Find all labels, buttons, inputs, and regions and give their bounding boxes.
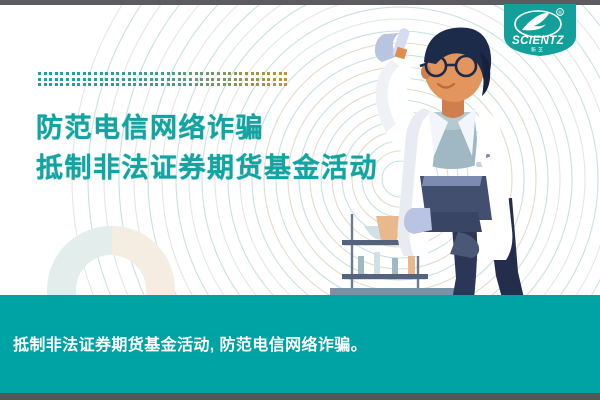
- dot-grid-cell: [195, 72, 198, 75]
- dot-grid-cell: [178, 83, 181, 86]
- dot-grid-cell: [133, 83, 136, 86]
- dot-grid-cell: [223, 78, 226, 81]
- dot-grid-cell: [206, 83, 209, 86]
- dot-grid-cell: [105, 83, 108, 86]
- dot-grid-cell: [139, 72, 142, 75]
- dot-grid-cell: [262, 72, 265, 75]
- dot-grid-cell: [88, 78, 91, 81]
- dot-grid-cell: [72, 78, 75, 81]
- scientz-logo-badge[interactable]: ® SCIENTZ 新芝: [502, 4, 578, 56]
- dot-grid-cell: [172, 83, 175, 86]
- dot-grid-cell: [279, 78, 282, 81]
- dot-grid-cell: [139, 83, 142, 86]
- dot-grid-cell: [200, 72, 203, 75]
- dot-grid-cell: [44, 72, 47, 75]
- dot-grid-cell: [273, 83, 276, 86]
- dot-grid-cell: [105, 78, 108, 81]
- registered-mark: ®: [558, 10, 562, 17]
- dot-grid-cell: [239, 83, 242, 86]
- dot-grid-cell: [60, 72, 63, 75]
- dot-grid-cell: [49, 72, 52, 75]
- dot-grid-cell: [256, 72, 259, 75]
- dot-grid-cell: [211, 83, 214, 86]
- dot-grid-cell: [161, 78, 164, 81]
- dot-grid-cell: [111, 78, 114, 81]
- dot-grid-cell: [38, 83, 41, 86]
- dot-grid-cell: [189, 83, 192, 86]
- logo-subbrand-text: 新芝: [531, 47, 545, 54]
- dot-grid-cell: [183, 72, 186, 75]
- dot-grid-cell: [228, 83, 231, 86]
- dot-grid-cell: [223, 72, 226, 75]
- dot-grid-cell: [60, 78, 63, 81]
- dot-grid-cell: [251, 78, 254, 81]
- dot-grid-cell: [144, 72, 147, 75]
- dot-grid-cell: [178, 72, 181, 75]
- dot-grid-cell: [279, 72, 282, 75]
- dot-grid-cell: [144, 83, 147, 86]
- dot-grid-cell: [155, 83, 158, 86]
- dot-grid-cell: [206, 78, 209, 81]
- dot-grid-cell: [234, 78, 237, 81]
- dot-grid-cell: [262, 78, 265, 81]
- dot-grid-cell: [139, 78, 142, 81]
- dot-grid-cell: [49, 83, 52, 86]
- dot-grid-cell: [83, 78, 86, 81]
- dot-grid-cell: [172, 78, 175, 81]
- dot-grid-cell: [256, 83, 259, 86]
- dot-grid-cell: [72, 83, 75, 86]
- dot-grid-cell: [49, 78, 52, 81]
- dot-grid-cell: [38, 72, 41, 75]
- dot-grid-decoration: [38, 72, 290, 89]
- dot-grid-cell: [88, 72, 91, 75]
- headline-line-2: 抵制非法证券期货基金活动: [36, 148, 378, 188]
- dot-grid-cell: [55, 83, 58, 86]
- dot-grid-cell: [133, 78, 136, 81]
- dot-grid-cell: [116, 78, 119, 81]
- logo-brand-text: SCIENTZ: [512, 35, 565, 47]
- headline-line-1: 防范电信网络诈骗: [36, 108, 378, 148]
- dot-grid-cell: [122, 83, 125, 86]
- dot-grid-cell: [128, 78, 131, 81]
- dot-grid-cell: [94, 78, 97, 81]
- dot-grid-cell: [273, 72, 276, 75]
- dot-grid-cell: [66, 83, 69, 86]
- dot-grid-cell: [267, 83, 270, 86]
- dot-grid-cell: [122, 72, 125, 75]
- dot-grid-cell: [94, 83, 97, 86]
- dot-grid-cell: [44, 83, 47, 86]
- dot-grid-cell: [122, 78, 125, 81]
- dot-grid-cell: [251, 72, 254, 75]
- dot-grid-cell: [105, 72, 108, 75]
- dot-grid-cell: [128, 72, 131, 75]
- dot-grid-cell: [206, 72, 209, 75]
- dot-grid-cell: [150, 72, 153, 75]
- dot-grid-cell: [66, 78, 69, 81]
- dot-grid-cell: [100, 83, 103, 86]
- dot-grid-cell: [217, 78, 220, 81]
- dot-grid-cell: [83, 83, 86, 86]
- dot-grid-cell: [200, 83, 203, 86]
- dot-grid-cell: [161, 72, 164, 75]
- dot-grid-cell: [195, 83, 198, 86]
- dot-grid-cell: [128, 83, 131, 86]
- dot-grid-cell: [77, 72, 80, 75]
- dot-grid-cell: [155, 78, 158, 81]
- dot-grid-cell: [195, 78, 198, 81]
- dot-grid-cell: [100, 72, 103, 75]
- bottom-banner: 抵制非法证券期货基金活动, 防范电信网络诈骗。: [0, 295, 600, 394]
- dot-grid-cell: [116, 72, 119, 75]
- dot-grid-cell: [262, 83, 265, 86]
- poster-canvas: 防范电信网络诈骗 抵制非法证券期货基金活动 抵制非法证券期货基金活动, 防范电信…: [0, 4, 600, 394]
- banner-slogan: 抵制非法证券期货基金活动, 防范电信网络诈骗。: [13, 331, 367, 355]
- dot-grid-cell: [217, 72, 220, 75]
- dot-grid-cell: [167, 83, 170, 86]
- dot-grid-cell: [245, 78, 248, 81]
- dot-grid-cell: [44, 78, 47, 81]
- dot-grid-cell: [150, 78, 153, 81]
- dot-grid-cell: [111, 72, 114, 75]
- dot-grid-cell: [77, 78, 80, 81]
- dot-grid-cell: [284, 83, 287, 86]
- dot-grid-cell: [116, 83, 119, 86]
- dot-grid-cell: [284, 72, 287, 75]
- dot-grid-cell: [273, 78, 276, 81]
- dot-grid-cell: [60, 83, 63, 86]
- dot-grid-cell: [284, 78, 287, 81]
- dot-grid-cell: [167, 78, 170, 81]
- dot-grid-cell: [111, 83, 114, 86]
- dot-grid-cell: [100, 78, 103, 81]
- dot-grid-cell: [38, 78, 41, 81]
- dot-grid-cell: [279, 83, 282, 86]
- dot-grid-cell: [234, 72, 237, 75]
- dot-grid-cell: [183, 78, 186, 81]
- dot-grid-cell: [55, 72, 58, 75]
- dot-grid-cell: [239, 78, 242, 81]
- dot-grid-cell: [66, 72, 69, 75]
- dot-grid-cell: [83, 72, 86, 75]
- poster-root: 防范电信网络诈骗 抵制非法证券期货基金活动 抵制非法证券期货基金活动, 防范电信…: [0, 0, 600, 400]
- dot-grid-cell: [189, 72, 192, 75]
- dot-grid-cell: [144, 78, 147, 81]
- dot-grid-cell: [88, 83, 91, 86]
- dot-grid-cell: [267, 78, 270, 81]
- dot-grid-row: [38, 83, 290, 89]
- dot-grid-cell: [55, 78, 58, 81]
- dot-grid-cell: [251, 83, 254, 86]
- dot-grid-cell: [245, 72, 248, 75]
- page-title: 防范电信网络诈骗 抵制非法证券期货基金活动: [36, 108, 378, 188]
- dot-grid-cell: [228, 78, 231, 81]
- dot-grid-cell: [211, 78, 214, 81]
- dot-grid-cell: [77, 83, 80, 86]
- dot-grid-cell: [94, 72, 97, 75]
- dot-grid-cell: [267, 72, 270, 75]
- dot-grid-cell: [172, 72, 175, 75]
- dot-grid-cell: [133, 72, 136, 75]
- dot-grid-cell: [167, 72, 170, 75]
- dot-grid-cell: [223, 83, 226, 86]
- dot-grid-cell: [183, 83, 186, 86]
- dot-grid-cell: [234, 83, 237, 86]
- bottom-chrome-bar: [0, 393, 600, 400]
- dot-grid-cell: [161, 83, 164, 86]
- dot-grid-cell: [245, 83, 248, 86]
- dot-grid-cell: [200, 78, 203, 81]
- dot-grid-cell: [155, 72, 158, 75]
- dot-grid-cell: [256, 78, 259, 81]
- dot-grid-cell: [217, 83, 220, 86]
- dot-grid-cell: [211, 72, 214, 75]
- dot-grid-cell: [150, 83, 153, 86]
- dot-grid-cell: [178, 78, 181, 81]
- dot-grid-cell: [72, 72, 75, 75]
- dot-grid-cell: [228, 72, 231, 75]
- dot-grid-cell: [239, 72, 242, 75]
- dot-grid-cell: [189, 78, 192, 81]
